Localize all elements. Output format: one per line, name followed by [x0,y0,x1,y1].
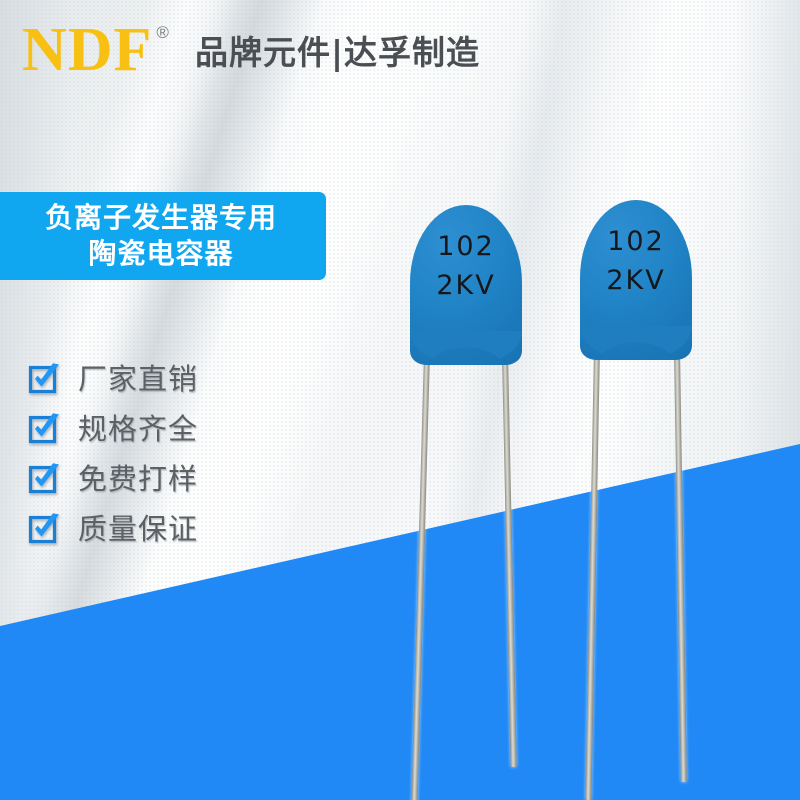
feature-item: 厂家直销 [28,358,198,396]
check-box-icon [28,510,62,544]
check-box-icon [28,360,62,394]
brand-slogan: 品牌元件|达孚制造 [195,26,480,74]
feature-list: 厂家直销 规格齐全 免费打样 [28,358,198,546]
feature-label: 规格齐全 [78,406,198,448]
product-title-line-1: 负离子发生器专用 [45,200,277,236]
feature-label: 质量保证 [78,506,198,548]
check-box-icon [28,460,62,494]
registered-trademark-icon: ® [156,23,169,43]
feature-item: 规格齐全 [28,408,198,446]
feature-label: 免费打样 [78,456,198,498]
product-image-canvas: NDF ® 品牌元件|达孚制造 负离子发生器专用 陶瓷电容器 厂家直销 [0,0,800,800]
ceramic-capacitor-right: 102 2KV [580,200,692,620]
brand-header: NDF ® 品牌元件|达孚制造 [0,0,800,100]
feature-label: 厂家直销 [78,356,198,398]
ceramic-capacitor-left: 102 2KV [410,205,522,625]
feature-item: 质量保证 [28,508,198,546]
product-title-line-2: 陶瓷电容器 [88,236,233,272]
feature-item: 免费打样 [28,458,198,496]
logo-wordmark: NDF [22,19,152,81]
ndf-logo: NDF ® [22,19,169,81]
check-box-icon [28,410,62,444]
product-title-banner: 负离子发生器专用 陶瓷电容器 [0,192,326,280]
